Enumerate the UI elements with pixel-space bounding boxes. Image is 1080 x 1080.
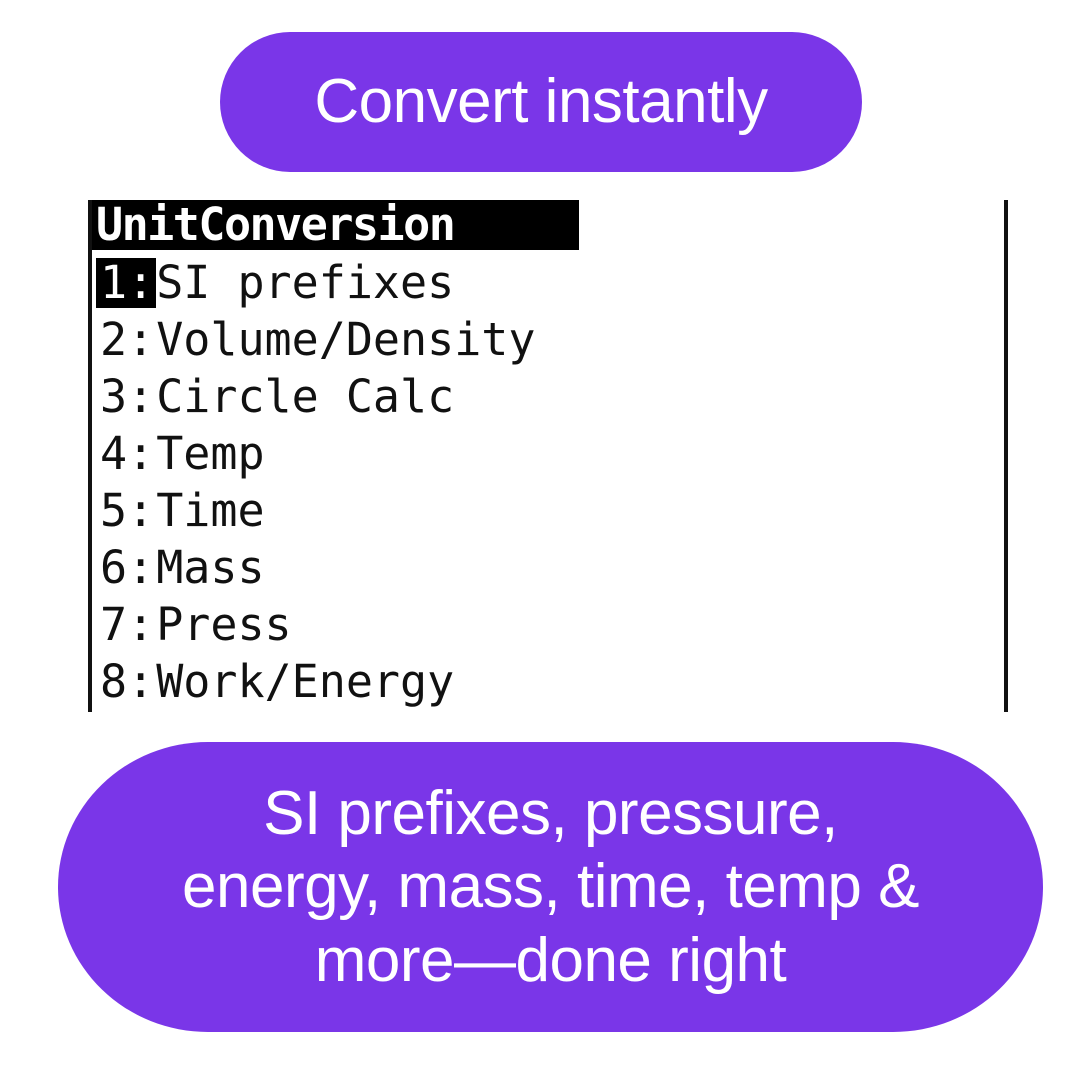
bottom-description-badge: SI prefixes, pressure,energy, mass, time… [58,742,1043,1032]
menu-item-4[interactable]: 4:Temp [96,429,996,486]
menu-item-label: Press [156,600,291,650]
bottom-description-line-2: energy, mass, time, temp & [182,850,919,923]
menu-item-label: Mass [156,543,264,593]
menu-item-label: Temp [156,429,264,479]
bottom-description-line-1: SI prefixes, pressure, [263,777,838,850]
menu-item-label: Work/Energy [156,657,454,707]
menu-item-2[interactable]: 2:Volume/Density [96,315,996,372]
menu-item-number: 4: [96,429,156,479]
menu-item-8[interactable]: 8:Work/Energy [96,657,996,714]
bottom-description-line-3: more—done right [315,924,787,997]
menu-item-number: 6: [96,543,156,593]
menu-item-label: Time [156,486,264,536]
menu-item-number: 1: [96,258,156,308]
calculator-title-bar: UnitConversion [92,200,579,250]
menu-item-7[interactable]: 7:Press [96,600,996,657]
menu-item-number: 7: [96,600,156,650]
menu-item-label: SI prefixes [156,258,454,308]
calculator-screen: UnitConversion 1:SI prefixes2:Volume/Den… [88,200,1008,712]
menu-item-number: 2: [96,315,156,365]
menu-item-1[interactable]: 1:SI prefixes [96,258,996,315]
menu-item-number: 8: [96,657,156,707]
menu-item-label: Volume/Density [156,315,535,365]
menu-item-number: 3: [96,372,156,422]
menu-item-3[interactable]: 3:Circle Calc [96,372,996,429]
calculator-menu-list: 1:SI prefixes2:Volume/Density3:Circle Ca… [96,258,996,714]
menu-item-5[interactable]: 5:Time [96,486,996,543]
menu-item-label: Circle Calc [156,372,454,422]
top-headline-badge: Convert instantly [220,32,862,172]
top-headline-text: Convert instantly [314,71,767,133]
menu-item-number: 5: [96,486,156,536]
menu-item-6[interactable]: 6:Mass [96,543,996,600]
